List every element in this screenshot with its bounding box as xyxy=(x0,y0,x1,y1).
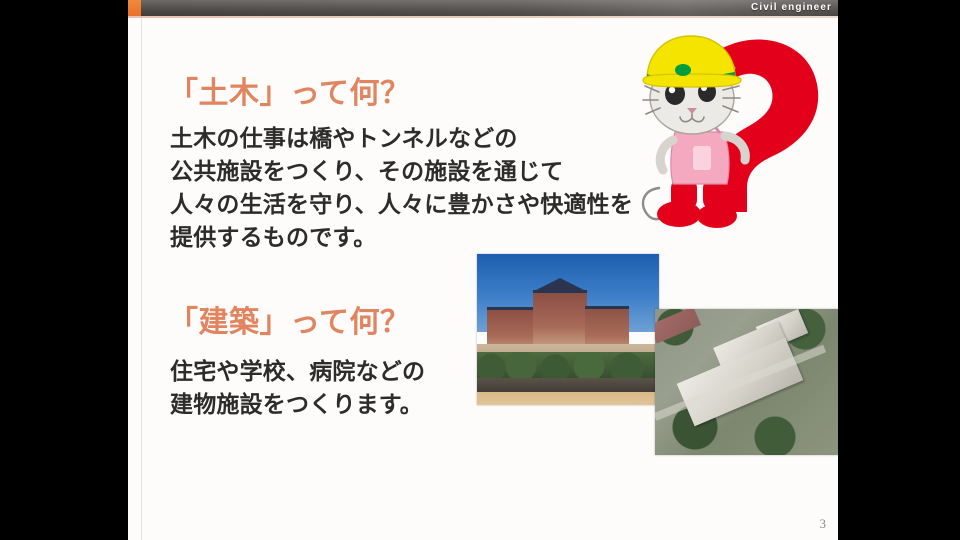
letterbox-left xyxy=(0,0,128,540)
section-body-kenchiku: 住宅や学校、病院などの 建物施設をつくります。 xyxy=(170,355,425,421)
hard-hat-icon xyxy=(643,36,741,87)
aerial-campus-photo xyxy=(655,309,838,455)
body-line: 建物施設をつくります。 xyxy=(170,388,425,421)
helmet-badge xyxy=(675,64,691,76)
section-body-doboku: 土木の仕事は橋やトンネルなどの 公共施設をつくり、その施設を通じて 人々の生活を… xyxy=(170,122,633,254)
campus-building-photo xyxy=(477,254,659,405)
screenshot-viewport: Civil engineer 「土木」って何？ 土木の仕事は橋やトンネルなどの … xyxy=(0,0,960,540)
hardhat-cat-mascot xyxy=(623,28,823,248)
section-heading-doboku: 「土木」って何？ xyxy=(168,68,411,112)
header-accent-square xyxy=(128,0,141,16)
header-underline xyxy=(128,16,838,18)
body-line: 公共施設をつくり、その施設を通じて xyxy=(170,155,633,188)
header-title: Civil engineer xyxy=(751,1,832,15)
letterbox-right xyxy=(838,0,960,540)
left-margin-rule xyxy=(141,18,142,540)
body-line: 提供するものです。 xyxy=(170,221,633,254)
section-heading-kenchiku: 「建築」って何？ xyxy=(168,297,411,341)
overall-pocket xyxy=(693,146,711,170)
body-line: 土木の仕事は橋やトンネルなどの xyxy=(170,122,633,155)
body-line: 住宅や学校、病院などの xyxy=(170,355,425,388)
header-sheen xyxy=(128,0,838,16)
presentation-slide: Civil engineer 「土木」って何？ 土木の仕事は橋やトンネルなどの … xyxy=(128,0,838,540)
body-line: 人々の生活を守り、人々に豊かさや快適性を xyxy=(170,188,633,221)
page-number: 3 xyxy=(820,516,827,532)
slide-header-bar: Civil engineer xyxy=(128,0,838,16)
